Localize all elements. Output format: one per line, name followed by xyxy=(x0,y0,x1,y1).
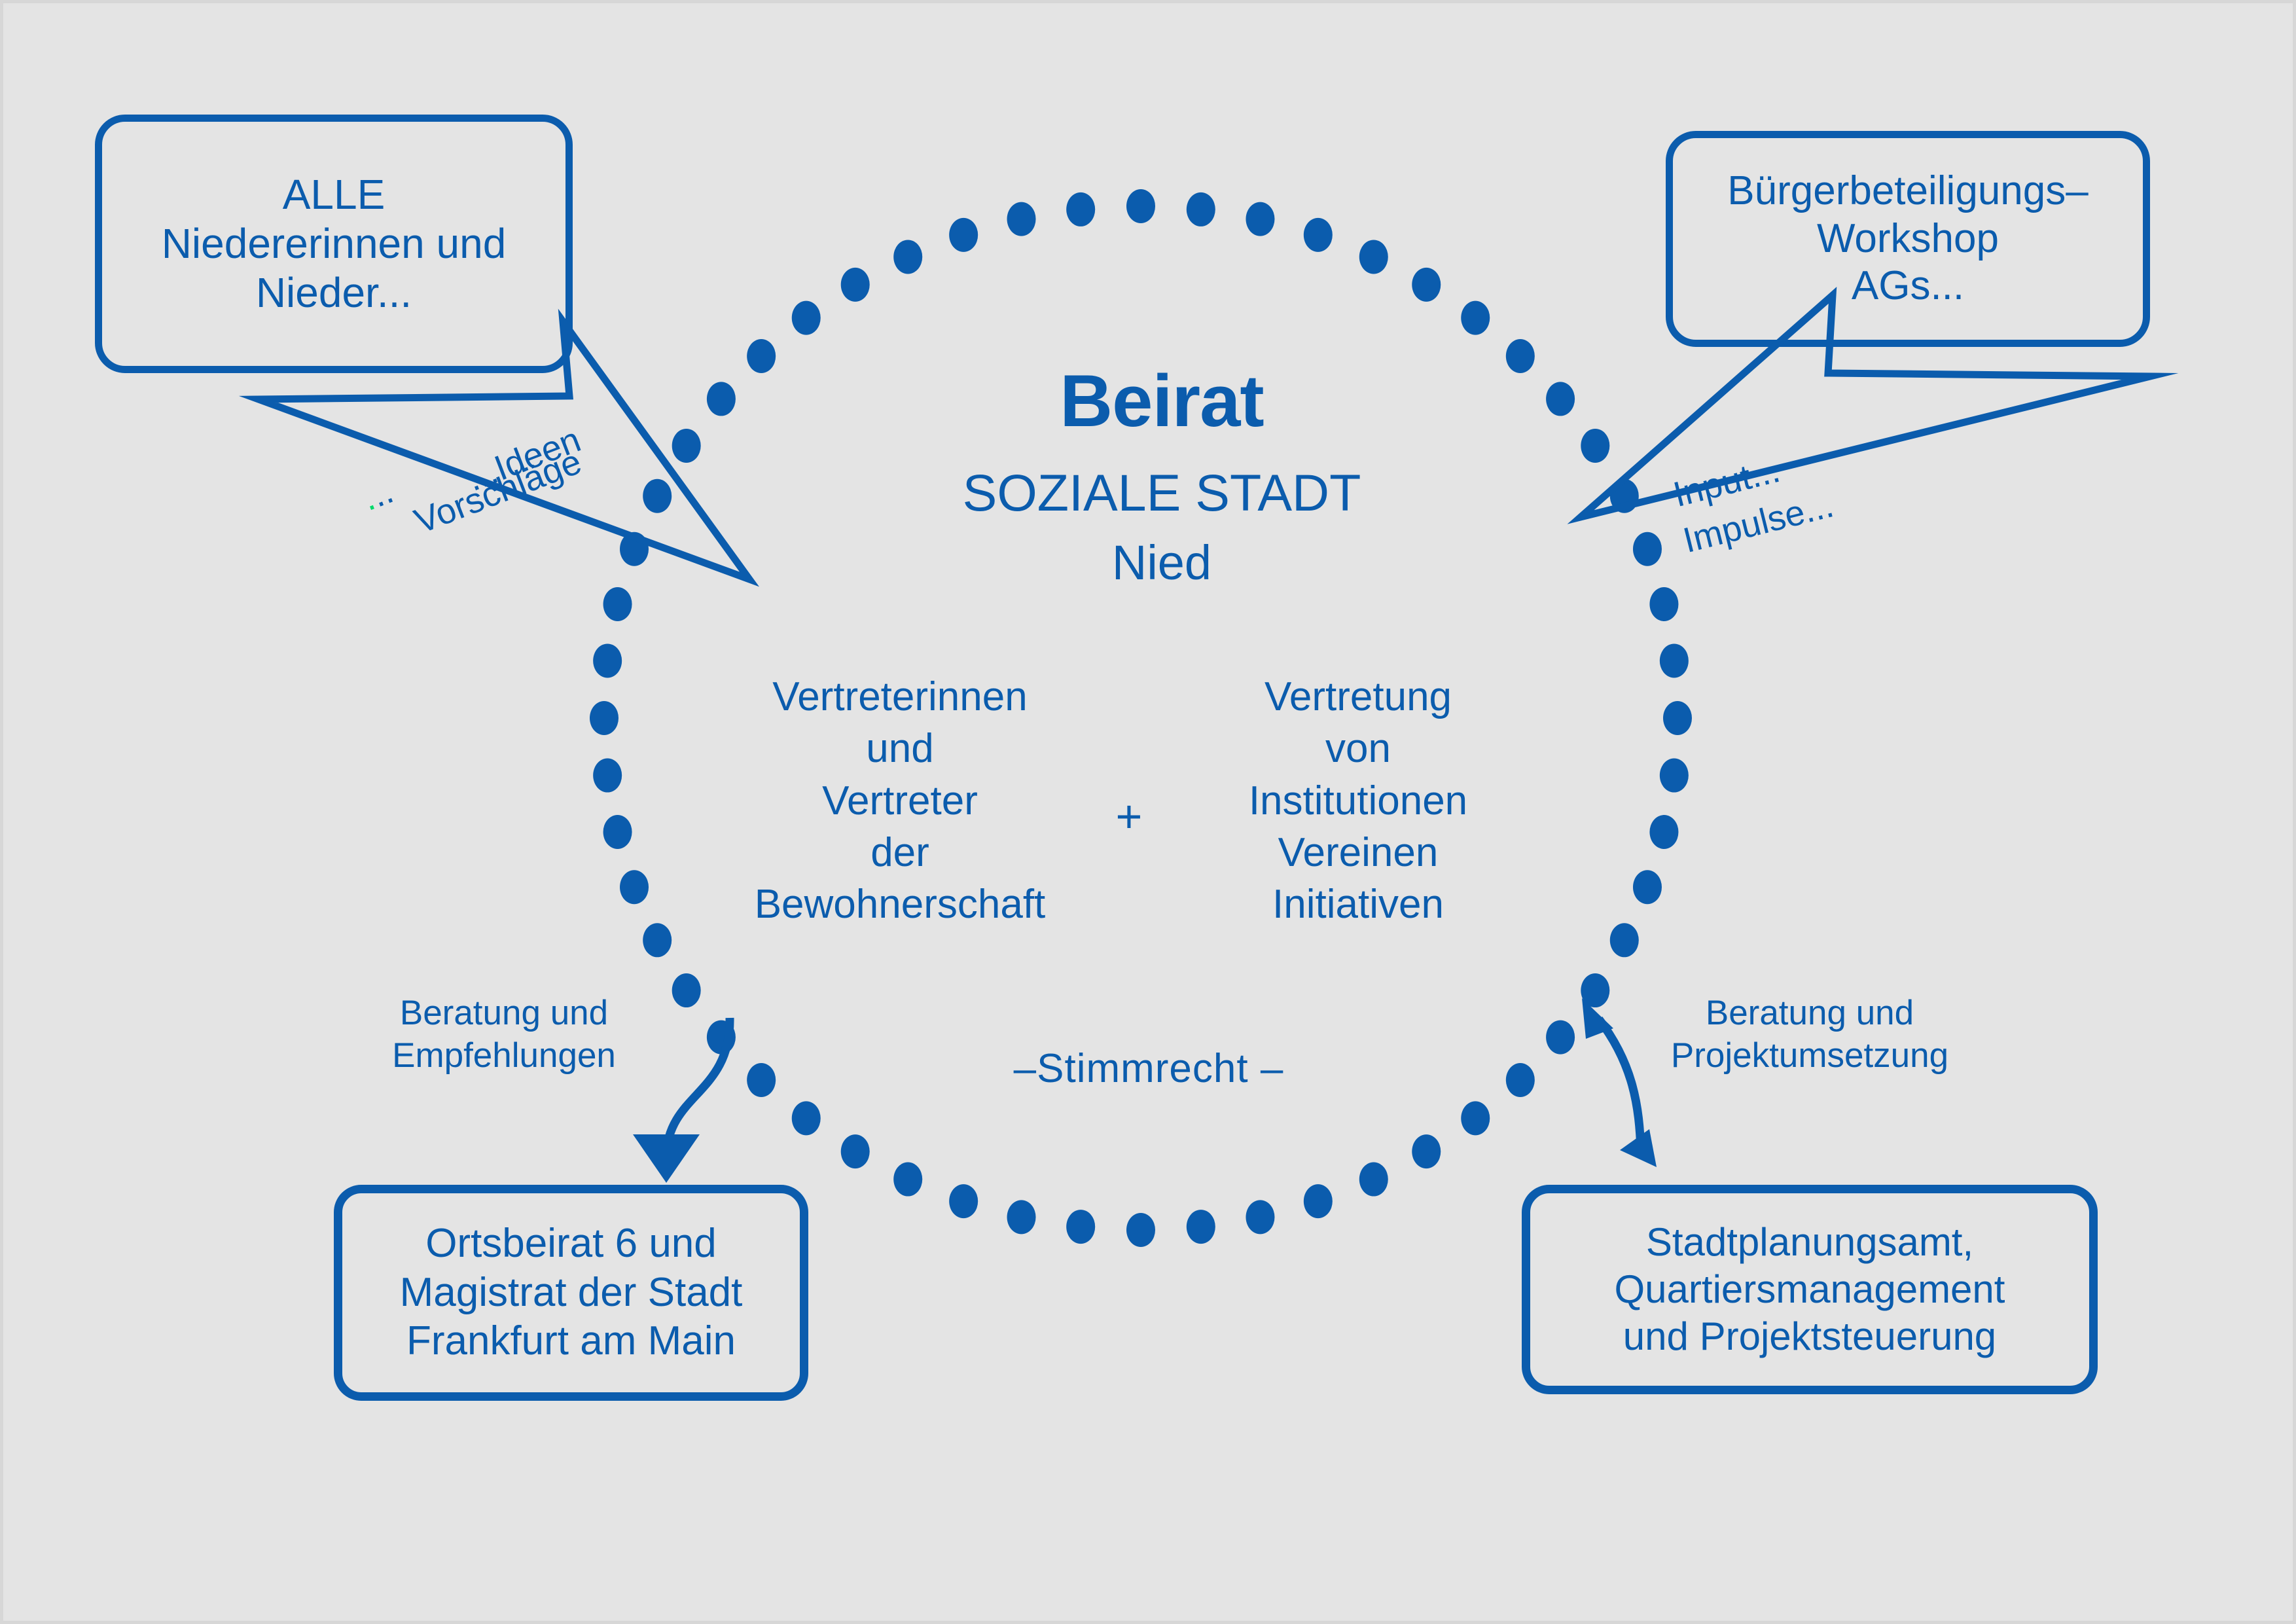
center-subtitle-line2: Nied xyxy=(808,533,1515,592)
diagram-canvas: Beirat SOZIALE STADT Nied Vertreterinnen… xyxy=(0,0,2296,1624)
label-vorschlaege-ellipsis: ... xyxy=(357,471,399,519)
plus-operator: + xyxy=(1090,789,1168,844)
box-ortsbeirat-text: Ortsbeirat 6 und Magistrat der Stadt Fra… xyxy=(400,1219,743,1365)
stimmrecht-note: –Stimmrecht – xyxy=(893,1044,1404,1094)
center-right-column: Vertretung von Institutionen Vereinen In… xyxy=(1175,671,1541,931)
box-stadtplanungsamt-text: Stadtplanungsamt, Quartiersmanagement un… xyxy=(1615,1219,2005,1360)
box-ortsbeirat-magistrat[interactable]: Ortsbeirat 6 und Magistrat der Stadt Fra… xyxy=(334,1185,808,1401)
label-beratung-empfehlungen: Beratung und Empfehlungen xyxy=(357,992,651,1077)
label-beratung-projektumsetzung: Beratung und Projektumsetzung xyxy=(1646,992,1973,1077)
center-subtitle-line1: SOZIALE STADT xyxy=(808,461,1515,524)
page-title: Beirat xyxy=(808,357,1515,446)
center-left-column: Vertreterinnen und Vertreter der Bewohne… xyxy=(697,671,1103,931)
bubble-alle-niedererinnen[interactable]: ALLE Niedererinnen und Nieder... xyxy=(95,115,573,373)
bubble-buergerbeteiligung-text: Bürgerbeteiligungs– Workshop AGs... xyxy=(1727,168,2089,310)
box-stadtplanungsamt[interactable]: Stadtplanungsamt, Quartiersmanagement un… xyxy=(1522,1185,2098,1394)
bubble-alle-text: ALLE Niedererinnen und Nieder... xyxy=(162,170,507,317)
bubble-buergerbeteiligung[interactable]: Bürgerbeteiligungs– Workshop AGs... xyxy=(1666,131,2150,347)
